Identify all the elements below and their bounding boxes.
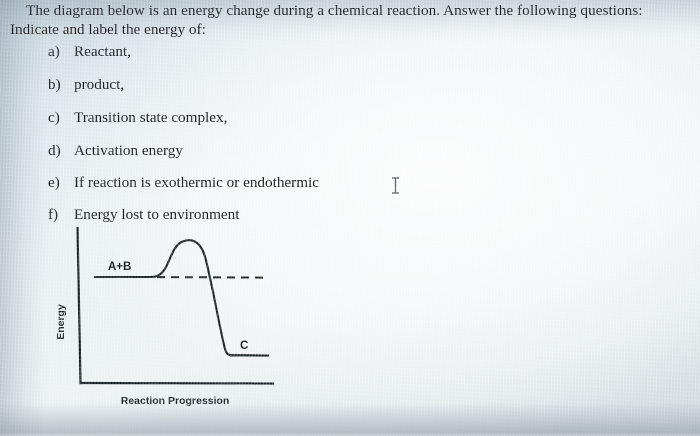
question-text-c: Transition state complex,: [74, 109, 227, 126]
x-axis-title: Reaction Progression: [121, 395, 230, 407]
y-axis-title: Energy: [55, 304, 67, 340]
question-marker-b: b): [48, 76, 74, 94]
question-item-e: e)If reaction is exothermic or endotherm…: [48, 174, 319, 192]
question-marker-d: d): [48, 142, 74, 160]
energy-profile-diagram: A+B C Energy Reaction Progression: [44, 222, 304, 422]
question-item-b: b)product,: [48, 76, 124, 94]
question-text-d: Activation energy: [74, 142, 183, 159]
y-axis-line: [78, 228, 81, 383]
prompt-line-2: Indicate and label the energy of:: [10, 21, 206, 40]
question-marker-a: a): [48, 43, 74, 61]
question-text-b: product,: [74, 76, 124, 93]
scanned-worksheet-photo: The diagram below is an energy change du…: [0, 0, 700, 436]
product-label: C: [240, 340, 248, 352]
reaction-energy-curve: [95, 240, 268, 355]
question-marker-c: c): [48, 109, 74, 127]
question-text-a: Reactant,: [74, 43, 131, 60]
photo-left-shading: [0, 0, 46, 436]
text-ibeam-cursor: [389, 176, 402, 195]
question-text-f: Energy lost to environment: [74, 206, 240, 223]
prompt-line-1: The diagram below is an energy change du…: [26, 2, 643, 21]
reactant-label: A+B: [108, 261, 131, 273]
question-marker-e: e): [48, 174, 74, 192]
reactant-level-dashed-line: [143, 277, 267, 278]
question-item-c: c)Transition state complex,: [48, 109, 227, 127]
question-text-e: If reaction is exothermic or endothermic: [74, 174, 319, 191]
x-axis-line: [81, 383, 274, 384]
question-item-a: a)Reactant,: [48, 43, 131, 61]
question-item-d: d)Activation energy: [48, 142, 183, 160]
